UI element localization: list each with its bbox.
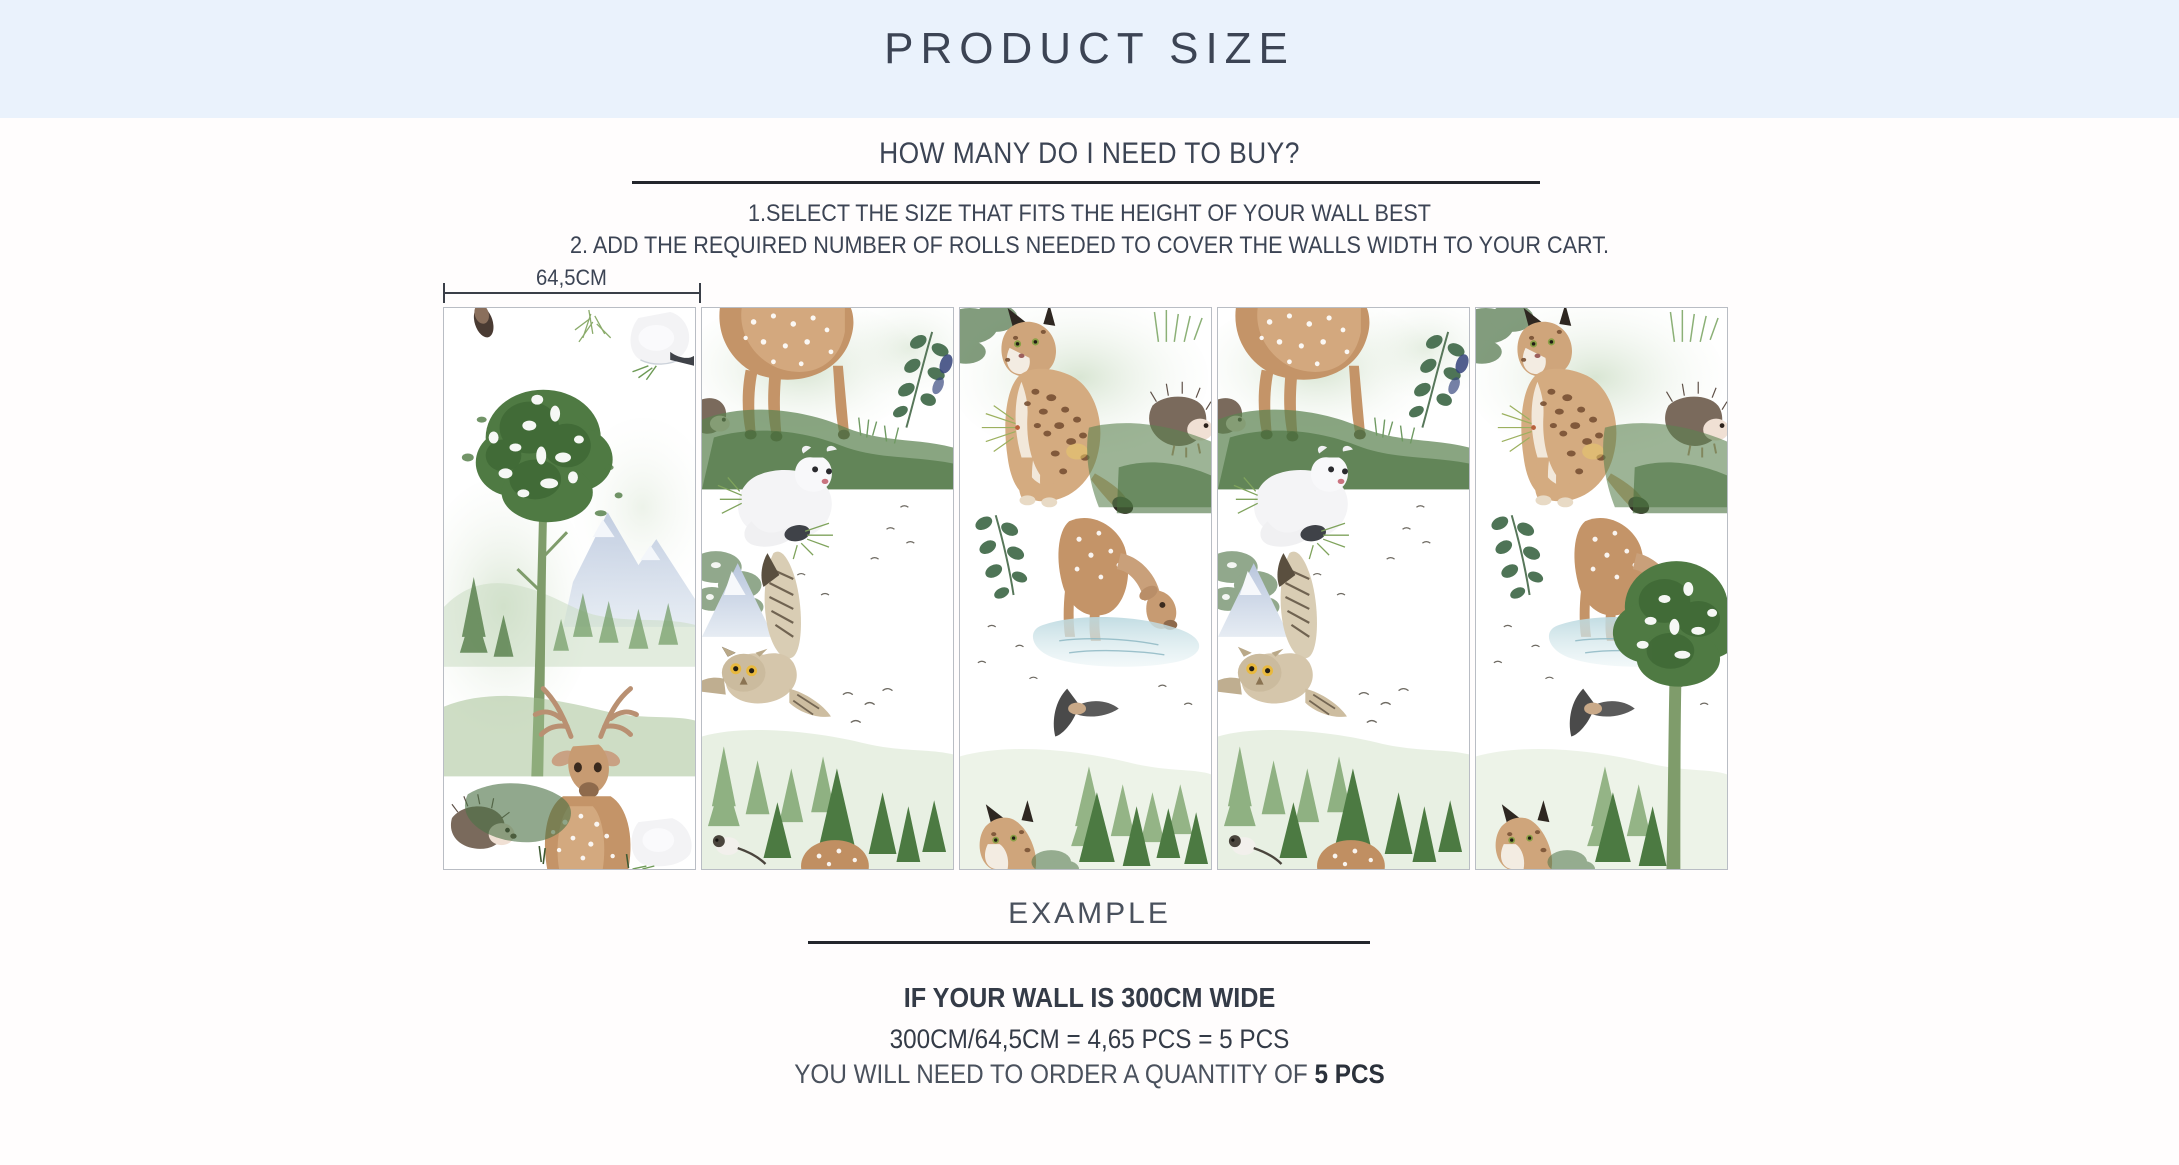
product-size-page: PRODUCT SIZE HOW MANY DO I NEED TO BUY? … <box>0 0 2179 1165</box>
example-calc-line: 300CM/64,5CM = 4,65 PCS = 5 PCS <box>109 1019 2070 1059</box>
forest-pattern-illustration <box>1218 308 1469 869</box>
dimension-tick-left <box>443 283 445 303</box>
instruction-line-1: 1.SELECT THE SIZE THAT FITS THE HEIGHT O… <box>109 198 2070 230</box>
example-final-line: YOU WILL NEED TO ORDER A QUANTITY OF 5 P… <box>109 1059 2070 1090</box>
page-title: PRODUCT SIZE <box>0 24 2179 74</box>
dimension-line <box>443 292 701 294</box>
example-final-prefix: YOU WILL NEED TO ORDER A QUANTITY OF <box>794 1059 1314 1089</box>
example-divider <box>808 941 1370 944</box>
wallpaper-panel-5[interactable] <box>1475 307 1728 870</box>
section-heading: HOW MANY DO I NEED TO BUY? <box>131 137 2049 171</box>
forest-pattern-illustration <box>702 308 953 869</box>
forest-pattern-illustration <box>444 308 695 869</box>
instruction-line-2: 2. ADD THE REQUIRED NUMBER OF ROLLS NEED… <box>109 230 2070 262</box>
example-body: IF YOUR WALL IS 300CM WIDE 300CM/64,5CM … <box>0 976 2179 1059</box>
example-final-value: 5 PCS <box>1315 1059 1385 1089</box>
heading-divider <box>632 181 1540 184</box>
example-title: EXAMPLE <box>0 897 2179 931</box>
wallpaper-panel-4[interactable] <box>1217 307 1470 870</box>
forest-pattern-illustration <box>960 308 1211 869</box>
instructions-block: 1.SELECT THE SIZE THAT FITS THE HEIGHT O… <box>0 198 2179 262</box>
example-wall-line: IF YOUR WALL IS 300CM WIDE <box>109 976 2070 1019</box>
forest-pattern-illustration <box>1476 308 1727 869</box>
dimension-tick-right <box>699 283 701 303</box>
wallpaper-panel-2[interactable] <box>701 307 954 870</box>
wallpaper-panel-1[interactable] <box>443 307 696 870</box>
dimension-label: 64,5CM <box>453 265 689 291</box>
wallpaper-panel-strip <box>443 307 1728 870</box>
wallpaper-panel-3[interactable] <box>959 307 1212 870</box>
